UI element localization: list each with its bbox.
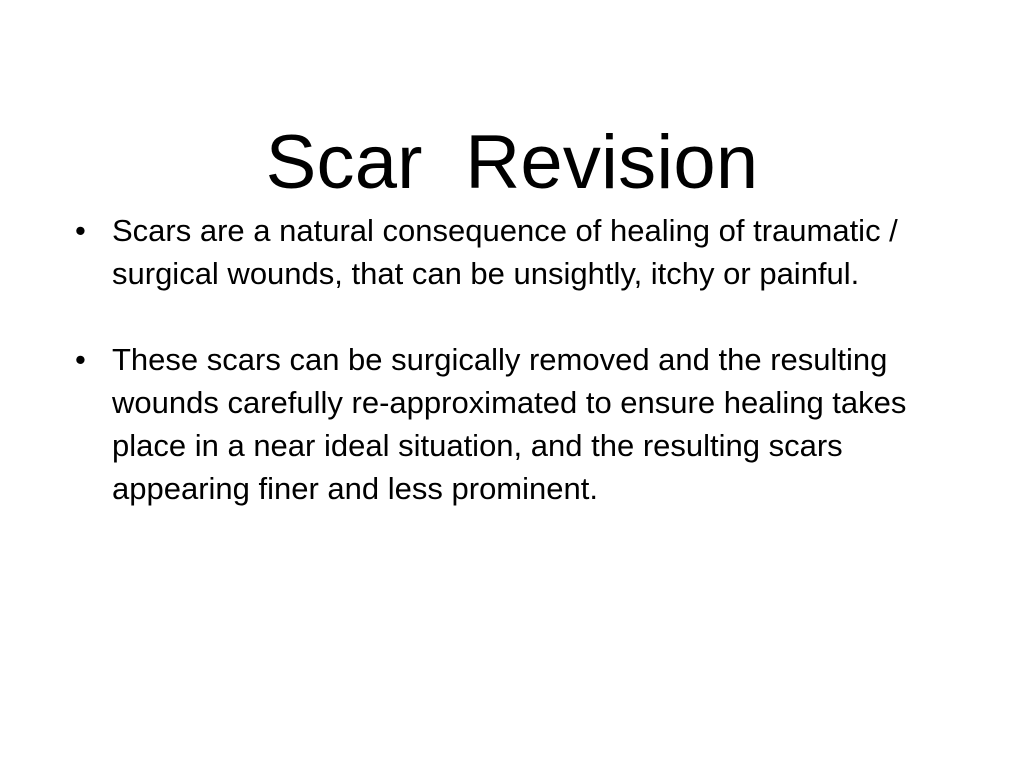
bullet-text: Scars are a natural consequence of heali… bbox=[112, 209, 970, 295]
list-item: • Scars are a natural consequence of hea… bbox=[70, 209, 970, 295]
slide-title: Scar Revision bbox=[0, 125, 1024, 201]
presentation-slide: Scar Revision • Scars are a natural cons… bbox=[0, 0, 1024, 768]
bullet-text: These scars can be surgically removed an… bbox=[112, 338, 970, 510]
bullet-dot-icon: • bbox=[75, 209, 97, 252]
bullet-dot-icon: • bbox=[75, 338, 97, 381]
list-item: • These scars can be surgically removed … bbox=[70, 338, 970, 510]
bullet-list: • Scars are a natural consequence of hea… bbox=[70, 209, 970, 510]
slide-body: • Scars are a natural consequence of hea… bbox=[70, 209, 970, 510]
